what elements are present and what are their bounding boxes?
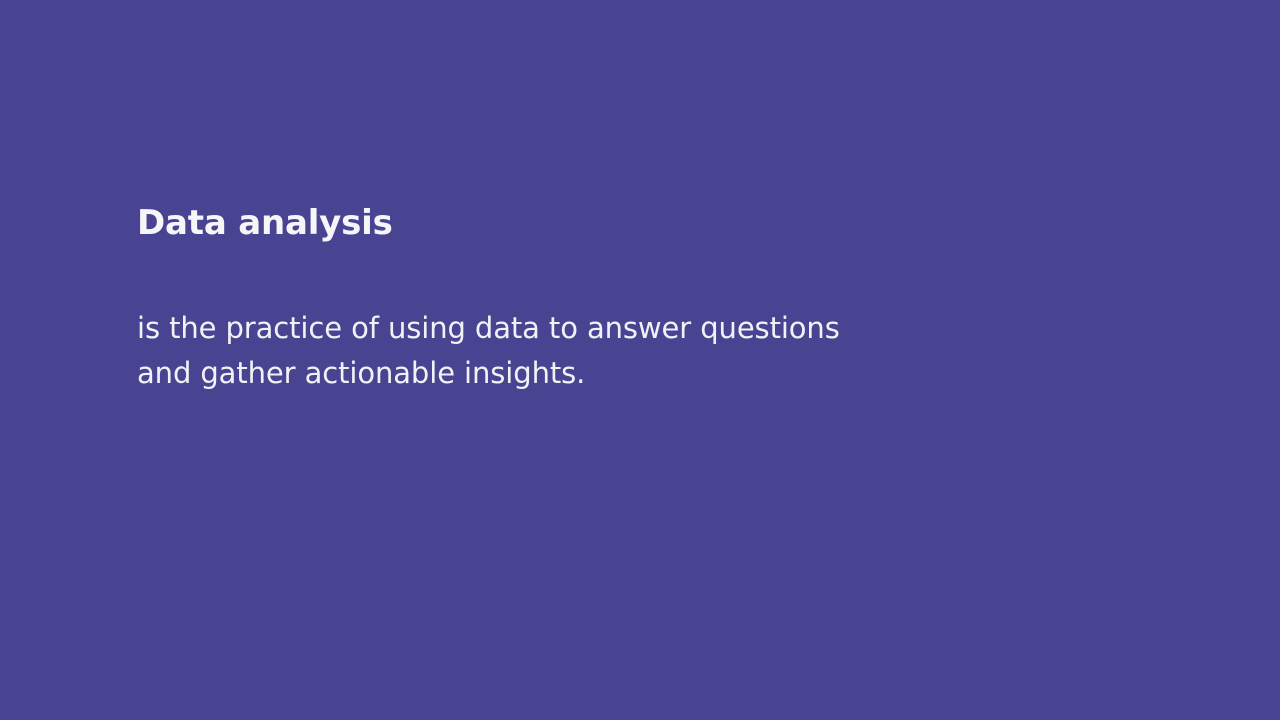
slide-body-line: and gather actionable insights. xyxy=(137,351,977,396)
slide-canvas: Data analysis is the practice of using d… xyxy=(0,0,1280,720)
slide-body-line: is the practice of using data to answer … xyxy=(137,306,977,351)
slide-body-text: is the practice of using data to answer … xyxy=(137,246,977,396)
slide-content-block: Data analysis is the practice of using d… xyxy=(137,200,977,396)
slide-title: Data analysis xyxy=(137,200,977,246)
